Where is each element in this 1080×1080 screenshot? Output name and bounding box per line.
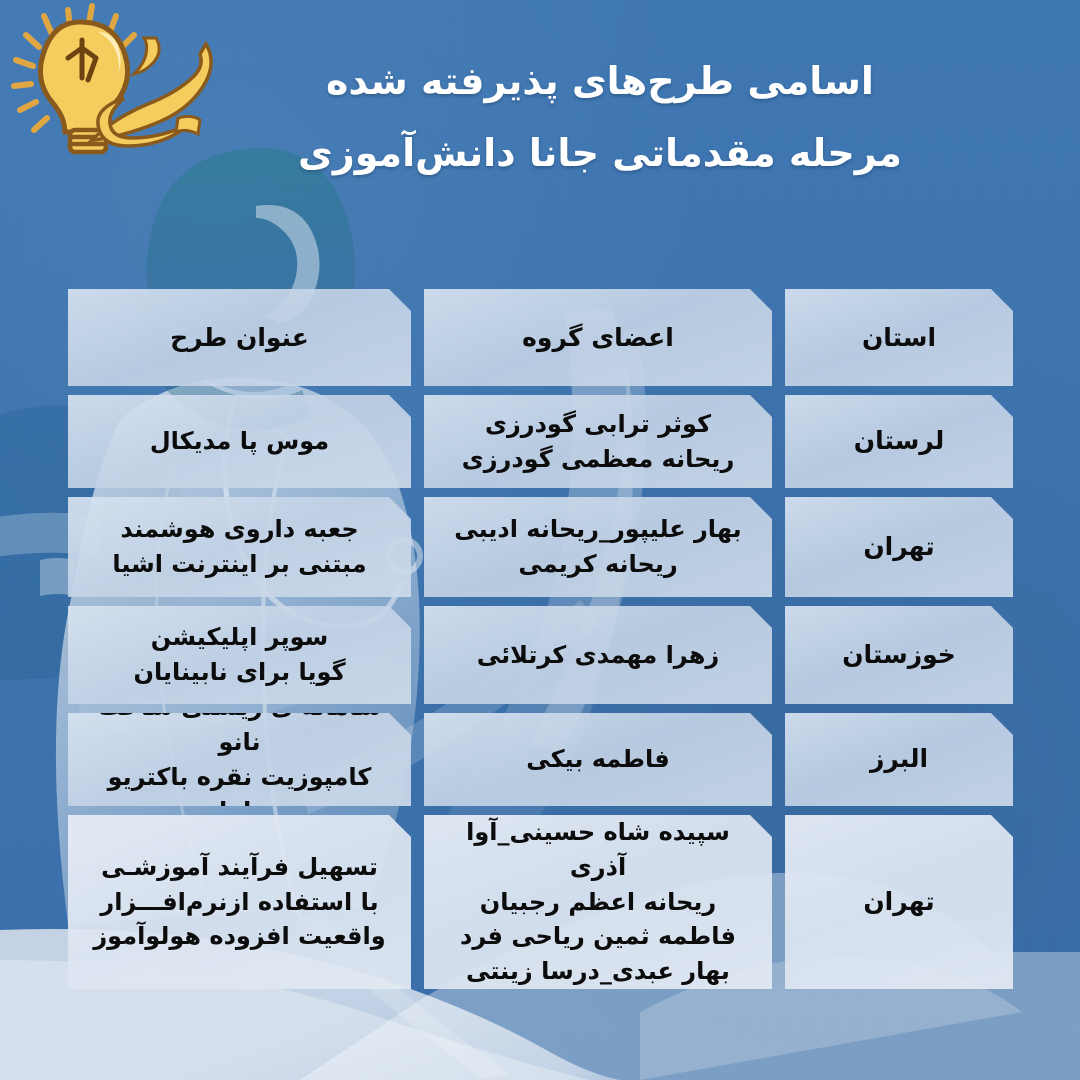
cell-members: زهرا مهمدی کرتلائی <box>424 606 772 704</box>
cell-plan: سوپر اپلیکیشن گویا برای نابینایان <box>68 606 411 704</box>
member-line: زهرا مهمدی کرتلائی <box>434 638 762 673</box>
province-label: البرز <box>795 741 1003 777</box>
plan-line: جعبه داروی هوشمند <box>78 512 401 547</box>
table-row: موس پا مدیکال کوثر ترابی گودرزی ریحانه م… <box>68 395 1013 488</box>
plan-line: موس پا مدیکال <box>78 424 401 459</box>
member-line: بهار علیپور_ریحانه ادیبی <box>434 512 762 547</box>
table-row: جعبه داروی هوشمند مبتنی بر اینترنت اشیا … <box>68 497 1013 597</box>
header-province-label: استان <box>795 323 1003 352</box>
member-line: ریحانه کریمی <box>434 547 762 582</box>
cell-province: لرستان <box>785 395 1013 488</box>
header-members-label: اعضای گروه <box>434 323 762 352</box>
cell-members: بهار علیپور_ریحانه ادیبی ریحانه کریمی <box>424 497 772 597</box>
member-line: سپیده شاه حسینی_آوا آذری <box>434 815 762 885</box>
table-header-row: عنوان طرح اعضای گروه استان <box>68 289 1013 386</box>
table-row: سوپر اپلیکیشن گویا برای نابینایان زهرا م… <box>68 606 1013 704</box>
title-line-2: مرحله مقدماتی جانا دانش‌آموزی <box>120 134 1080 172</box>
plan-line: تسهیل فرآیند آموزشـی <box>78 850 401 885</box>
cell-members: کوثر ترابی گودرزی ریحانه معظمی گودرزی <box>424 395 772 488</box>
projects-table: عنوان طرح اعضای گروه استان موس پا مدیکال… <box>68 289 1013 989</box>
province-label: خوزستان <box>795 637 1003 673</box>
cell-province: خوزستان <box>785 606 1013 704</box>
province-label: تهران <box>795 529 1003 565</box>
member-line: ریحانه معظمی گودرزی <box>434 442 762 477</box>
province-label: لرستان <box>795 423 1003 459</box>
header-cell-province: استان <box>785 289 1013 386</box>
cell-plan: موس پا مدیکال <box>68 395 411 488</box>
plan-line: با استفاده ازنرم‌افـــزار <box>78 885 401 920</box>
member-line: فاطمه بیکی <box>434 742 762 777</box>
member-line: ریحانه اعظم رجبیان <box>434 885 762 920</box>
header-cell-members: اعضای گروه <box>424 289 772 386</box>
table-row: سامانه ی زیستی ساخت نانو کامپوزیت نقره ب… <box>68 713 1013 806</box>
cell-province: البرز <box>785 713 1013 806</box>
table-row: تسهیل فرآیند آموزشـی با استفاده ازنرم‌اف… <box>68 815 1013 989</box>
plan-line: گویا برای نابینایان <box>78 655 401 690</box>
poster-canvas: اسامی طرح‌های پذیرفته شده مرحله مقدماتی … <box>0 0 1080 1080</box>
member-line: کوثر ترابی گودرزی <box>434 407 762 442</box>
cell-province: تهران <box>785 497 1013 597</box>
cell-members: فاطمه بیکی <box>424 713 772 806</box>
header-plan-label: عنوان طرح <box>78 323 401 352</box>
plan-line: واقعیت افزوده هولوآموز <box>78 919 401 954</box>
cell-members: سپیده شاه حسینی_آوا آذری ریحانه اعظم رجب… <box>424 815 772 989</box>
cell-province: تهران <box>785 815 1013 989</box>
header-cell-plan: عنوان طرح <box>68 289 411 386</box>
title-line-1: اسامی طرح‌های پذیرفته شده <box>120 62 1080 100</box>
member-line: فاطمه ثمین ریاحی فرد <box>434 919 762 954</box>
page-title: اسامی طرح‌های پذیرفته شده مرحله مقدماتی … <box>0 62 1080 172</box>
cell-plan: تسهیل فرآیند آموزشـی با استفاده ازنرم‌اف… <box>68 815 411 989</box>
province-label: تهران <box>795 884 1003 920</box>
plan-line: مبتنی بر اینترنت اشیا <box>78 547 401 582</box>
member-line: بهار عبدی_درسا زینتی <box>434 954 762 989</box>
cell-plan: سامانه ی زیستی ساخت نانو کامپوزیت نقره ب… <box>68 713 411 806</box>
plan-line: سوپر اپلیکیشن <box>78 620 401 655</box>
cell-plan: جعبه داروی هوشمند مبتنی بر اینترنت اشیا <box>68 497 411 597</box>
